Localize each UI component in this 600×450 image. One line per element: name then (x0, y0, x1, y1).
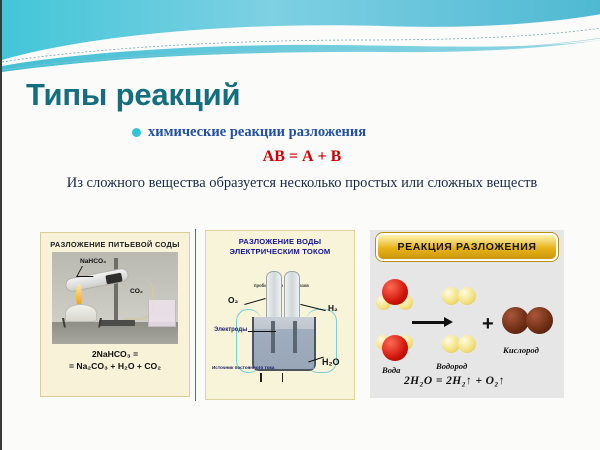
figure1-equation: 2NaHCO₃ = = Na₂CO₃ + H₂O + CO₂ (44, 349, 186, 372)
electrolysis-beaker (252, 317, 316, 371)
figure3-plus-sign: + (482, 313, 494, 336)
general-formula: АВ = А + В (2, 148, 600, 166)
figure1-equation-line2: = Na₂CO₃ + H₂O + CO₂ (44, 361, 186, 373)
tripod-icon (62, 318, 102, 328)
electrode-left (271, 321, 275, 353)
figure2-label-electrodes: Электроды (214, 327, 247, 333)
wave-svg (2, 0, 600, 80)
oxygen-molecule-atom (502, 307, 529, 334)
figure3-label-water: Вода (382, 365, 400, 375)
figure1-title: РАЗЛОЖЕНИЕ ПИТЬЕВОЙ СОДЫ (44, 240, 186, 249)
figure2-title-line1: РАЗЛОЖЕНИЕ ВОДЫ (210, 237, 350, 247)
clamp-icon (105, 273, 122, 285)
figure1-illustration: NaHCO₃ CO₂ (52, 252, 178, 344)
figure1-label-reagent: NaHCO₃ (80, 258, 106, 265)
figure3-banner: РЕАКЦИЯ РАЗЛОЖЕНИЯ (376, 233, 558, 261)
figure2-title: РАЗЛОЖЕНИЕ ВОДЫ ЭЛЕКТРИЧЕСКИМ ТОКОМ (210, 237, 350, 257)
oxygen-molecule-atom (526, 307, 553, 334)
oxygen-atom-water (382, 279, 408, 305)
figure3-banner-label: РЕАКЦИЯ РАЗЛОЖЕНИЯ (397, 241, 536, 253)
page-title: Типы реакций (26, 77, 240, 113)
figure1-label-gas: CO₂ (130, 288, 143, 295)
figure2-illustration: пробирки для сбора газов O₂ H₂ H₂O Элект… (210, 261, 350, 389)
figure3-illustration: + Вода Водород Кислород 2H₂O = 2H₂↑ + O₂… (370, 261, 564, 399)
figure1-equation-line1: 2NaHCO₃ = (44, 349, 186, 361)
figure-decomposition-reaction: РЕАКЦИЯ РАЗЛОЖЕНИЯ + Вода Водоро (370, 230, 564, 398)
stand-post (114, 258, 118, 322)
figure3-equation: 2H₂O = 2H₂↑ + O₂↑ (404, 375, 505, 387)
hydrogen-molecule-atom (458, 287, 476, 305)
figure2-label-oxygen: O₂ (228, 295, 238, 305)
battery-icon (260, 373, 283, 382)
vertical-divider (195, 229, 196, 401)
electrode-right (293, 321, 297, 353)
reaction-arrow-icon (412, 321, 446, 324)
bullet-dot-icon (132, 128, 141, 137)
oxygen-atom-water (382, 335, 408, 361)
figure3-label-hydrogen: Водород (436, 361, 467, 371)
header-wave-decoration (2, 0, 600, 80)
description-text: Из сложного вещества образуется нескольк… (40, 172, 564, 194)
figure2-label-water: H₂O (322, 357, 340, 367)
hydrogen-molecule-atom (458, 335, 476, 353)
figure2-label-hydrogen: H₂ (328, 303, 338, 313)
figure-soda-decomposition: РАЗЛОЖЕНИЕ ПИТЬЕВОЙ СОДЫ NaHCO₃ CO₂ 2NaH… (40, 232, 190, 397)
collection-beaker (148, 300, 176, 327)
stand-base (99, 320, 135, 326)
bullet-label: химические реакции разложения (148, 124, 366, 141)
leader-line-electrodes (248, 331, 276, 332)
slide: Типы реакций химические реакции разложен… (0, 0, 600, 450)
figure3-label-oxygen: Кислород (503, 345, 539, 355)
figure2-title-line2: ЭЛЕКТРИЧЕСКИМ ТОКОМ (210, 247, 350, 257)
water-body (254, 329, 314, 369)
figure2-label-power-source: Источник постоянного тока (212, 365, 274, 370)
leader-line-oxygen (244, 298, 265, 305)
bullet-row: химические реакции разложения (132, 124, 366, 141)
figure-water-electrolysis: РАЗЛОЖЕНИЕ ВОДЫ ЭЛЕКТРИЧЕСКИМ ТОКОМ проб… (205, 230, 355, 400)
flame-icon (76, 284, 82, 306)
